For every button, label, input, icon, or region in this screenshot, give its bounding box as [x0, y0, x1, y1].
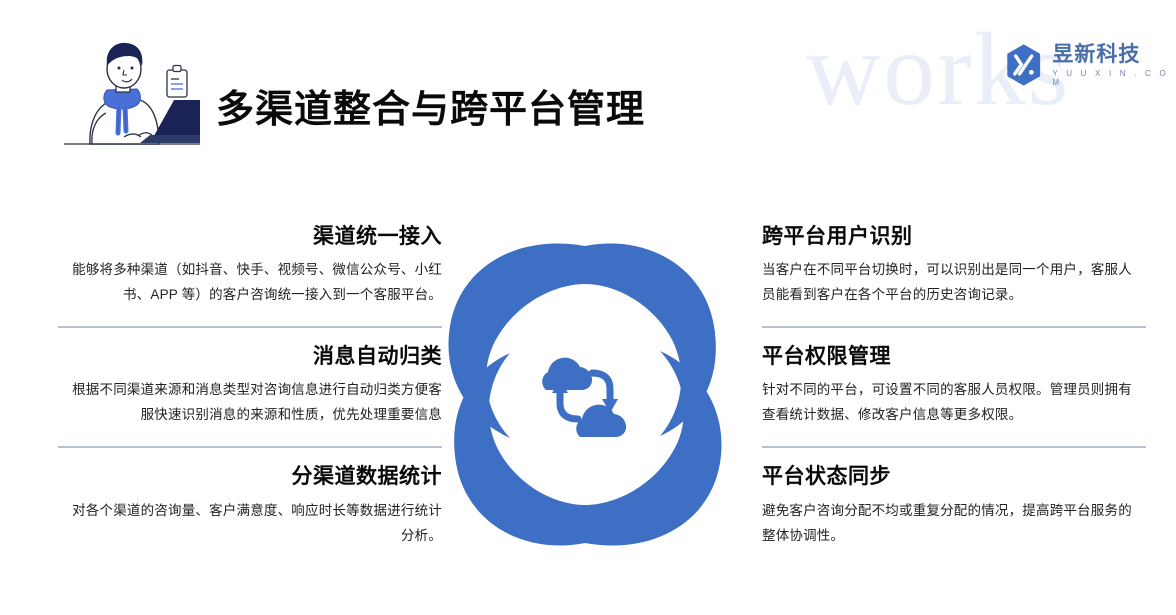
- pinwheel-shutter-graphic: [432, 222, 738, 567]
- brand-name: 昱新科技: [1052, 43, 1176, 67]
- feature-title: 平台状态同步: [762, 464, 1146, 490]
- feature-item: 跨平台用户识别 当客户在不同平台切换时，可以识别出是同一个用户，客服人员能看到客…: [762, 224, 1146, 308]
- feature-description: 根据不同渠道来源和消息类型对咨询信息进行自动归类方便客服快速识别消息的来源和性质…: [58, 378, 442, 428]
- right-feature-column: 跨平台用户识别 当客户在不同平台切换时，可以识别出是同一个用户，客服人员能看到客…: [762, 224, 1146, 549]
- brand-logo: 昱新科技 Y U U X I N . C O M: [1004, 42, 1176, 88]
- feature-description: 对各个渠道的咨询量、客户满意度、响应时长等数据进行统计分析。: [58, 499, 442, 549]
- page-title: 多渠道整合与跨平台管理: [216, 78, 645, 133]
- person-at-laptop-illustration: [62, 32, 202, 162]
- cloud-sync-icon: [542, 358, 626, 437]
- feature-item: 平台状态同步 避免客户咨询分配不均或重复分配的情况，提高跨平台服务的整体协调性。: [762, 464, 1146, 548]
- slide-canvas: works 昱新科技 Y U U X I N . C O M: [0, 0, 1176, 615]
- left-feature-column: 渠道统一接入 能够将多种渠道（如抖音、快手、视频号、微信公众号、小红书、APP …: [58, 224, 442, 549]
- feature-divider: [762, 446, 1146, 448]
- feature-title: 消息自动归类: [58, 344, 442, 370]
- feature-title: 平台权限管理: [762, 344, 1146, 370]
- brand-domain: Y U U X I N . C O M: [1052, 69, 1176, 87]
- feature-description: 针对不同的平台，可设置不同的客服人员权限。管理员则拥有查看统计数据、修改客户信息…: [762, 378, 1146, 428]
- feature-description: 能够将多种渠道（如抖音、快手、视频号、微信公众号、小红书、APP 等）的客户咨询…: [58, 258, 442, 308]
- feature-divider: [58, 446, 442, 448]
- brand-text-block: 昱新科技 Y U U X I N . C O M: [1052, 43, 1176, 87]
- feature-title: 分渠道数据统计: [58, 464, 442, 490]
- hexagon-x-logo-icon: [1004, 42, 1043, 88]
- feature-description: 当客户在不同平台切换时，可以识别出是同一个用户，客服人员能看到客户在各个平台的历…: [762, 258, 1146, 308]
- feature-divider: [762, 326, 1146, 328]
- feature-item: 渠道统一接入 能够将多种渠道（如抖音、快手、视频号、微信公众号、小红书、APP …: [58, 224, 442, 308]
- feature-title: 渠道统一接入: [58, 224, 442, 250]
- feature-description: 避免客户咨询分配不均或重复分配的情况，提高跨平台服务的整体协调性。: [762, 499, 1146, 549]
- feature-item: 分渠道数据统计 对各个渠道的咨询量、客户满意度、响应时长等数据进行统计分析。: [58, 464, 442, 548]
- feature-item: 消息自动归类 根据不同渠道来源和消息类型对咨询信息进行自动归类方便客服快速识别消…: [58, 344, 442, 428]
- feature-title: 跨平台用户识别: [762, 224, 1146, 250]
- feature-divider: [58, 326, 442, 328]
- feature-item: 平台权限管理 针对不同的平台，可设置不同的客服人员权限。管理员则拥有查看统计数据…: [762, 344, 1146, 428]
